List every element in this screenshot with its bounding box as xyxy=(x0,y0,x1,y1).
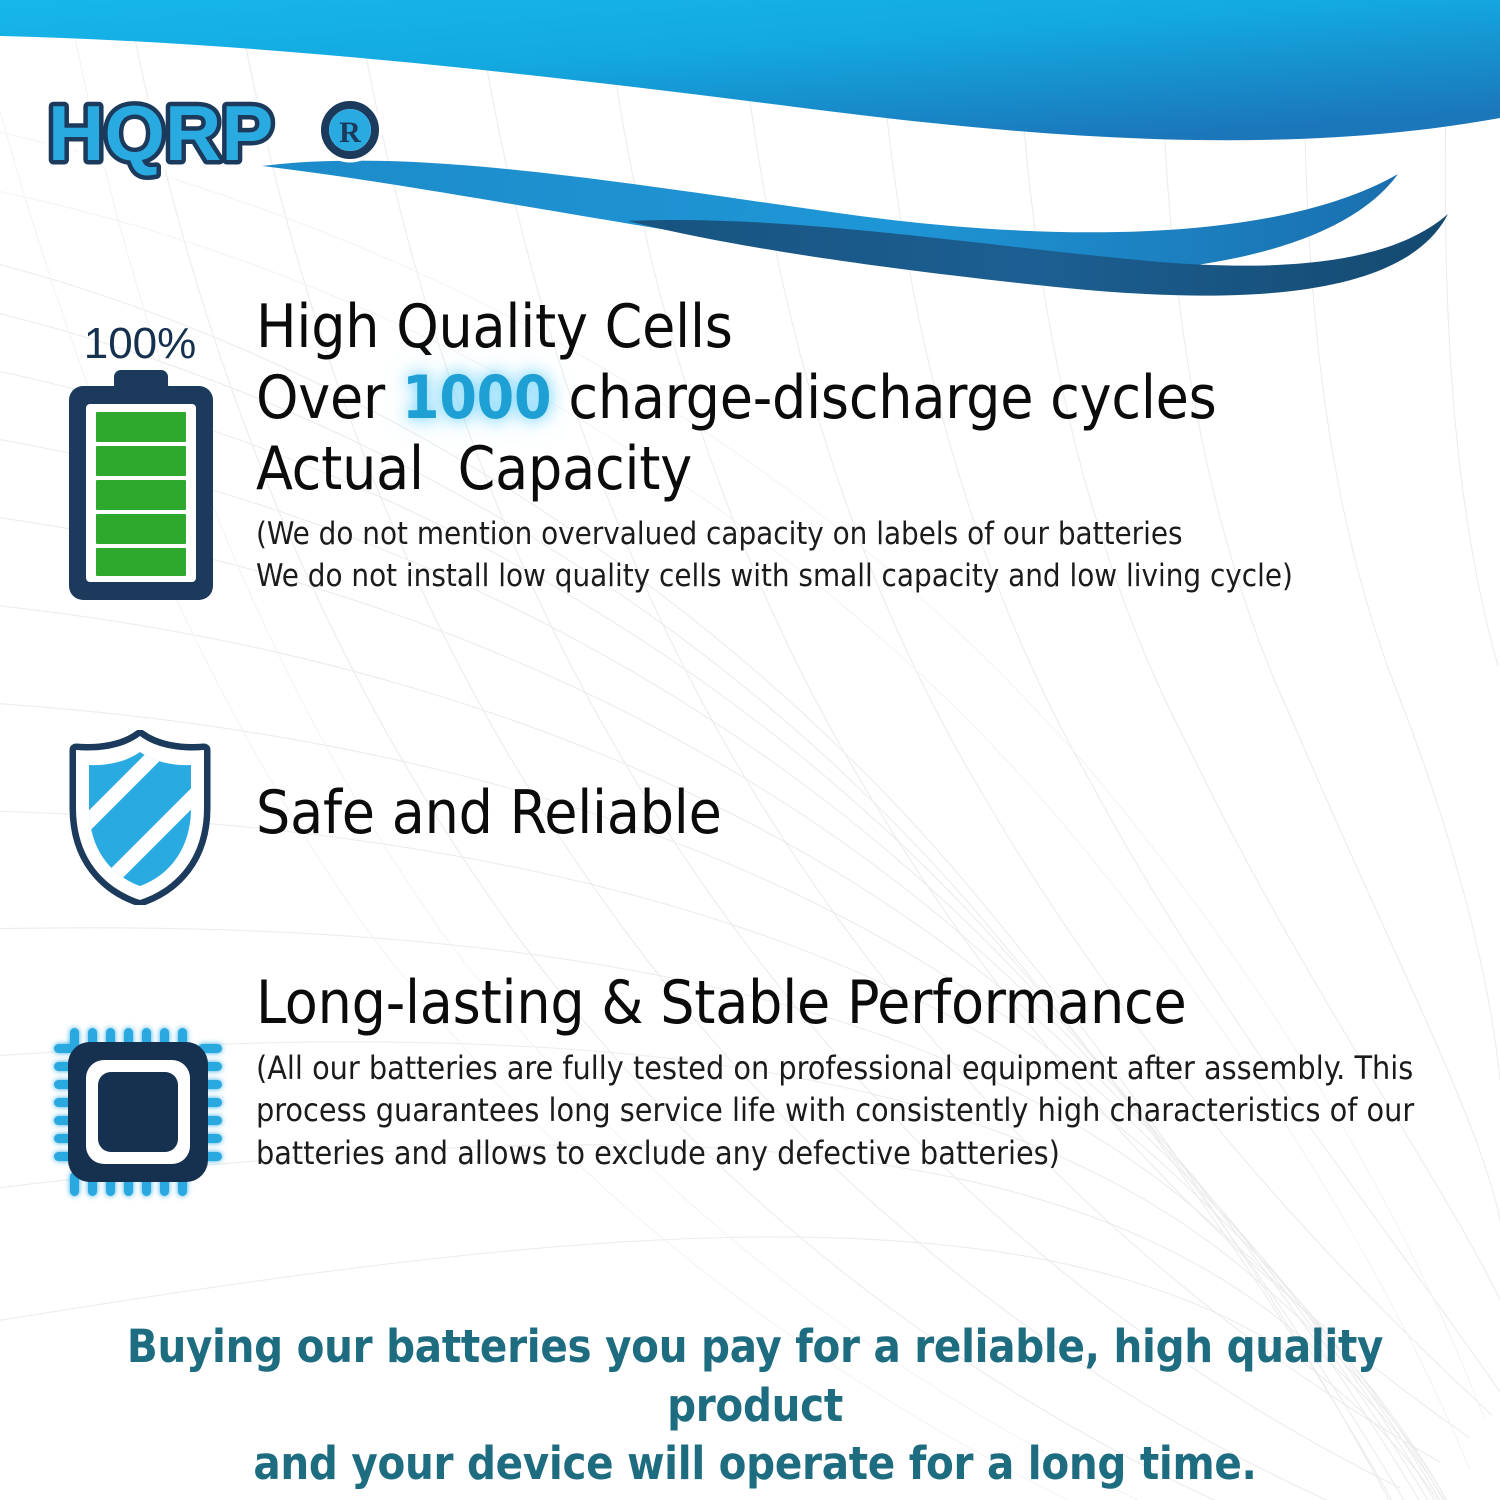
feature-title-line2: Over 1000 charge-discharge cycles xyxy=(256,363,1486,434)
battery-icon: 100% xyxy=(58,312,223,607)
footer-tagline-line1: Buying our batteries you pay for a relia… xyxy=(40,1318,1470,1435)
chip-icon xyxy=(48,1022,228,1202)
battery-percent-label: 100% xyxy=(84,319,197,368)
title-line2-prefix: Over xyxy=(256,363,402,433)
logo-text-fill: HQRP xyxy=(48,89,273,177)
hqrp-logo[interactable]: HQRP HQRP HQRP R xyxy=(46,88,406,188)
feature-title-safe: Safe and Reliable xyxy=(256,778,1356,849)
infographic-page: HQRP HQRP HQRP R 100% xyxy=(0,0,1500,1500)
chip-core xyxy=(98,1072,178,1152)
footer-tagline-line2: and your device will operate for a long … xyxy=(40,1435,1470,1494)
footer-tagline: Buying our batteries you pay for a relia… xyxy=(40,1318,1470,1494)
feature-note-performance: (All our batteries are fully tested on p… xyxy=(256,1047,1471,1175)
shield-icon xyxy=(60,730,220,905)
feature-title-line3: Actual Capacity xyxy=(256,434,1486,505)
feature-note-capacity: (We do not mention overvalued capacity o… xyxy=(256,514,1486,597)
feature-long-lasting-performance: Long-lasting & Stable Performance (All o… xyxy=(256,968,1471,1174)
feature-title-line1: High Quality Cells xyxy=(256,292,1486,363)
feature-safe-and-reliable: Safe and Reliable xyxy=(256,778,1356,849)
svg-text:R: R xyxy=(339,116,361,149)
title-line2-suffix: charge-discharge cycles xyxy=(551,363,1216,433)
battery-level-bars xyxy=(96,412,186,576)
feature-title-performance: Long-lasting & Stable Performance xyxy=(256,968,1471,1039)
registered-mark-icon: R xyxy=(325,105,375,155)
feature-high-quality-cells: High Quality Cells Over 1000 charge-disc… xyxy=(256,292,1486,597)
cycle-count-highlight: 1000 xyxy=(402,363,551,433)
